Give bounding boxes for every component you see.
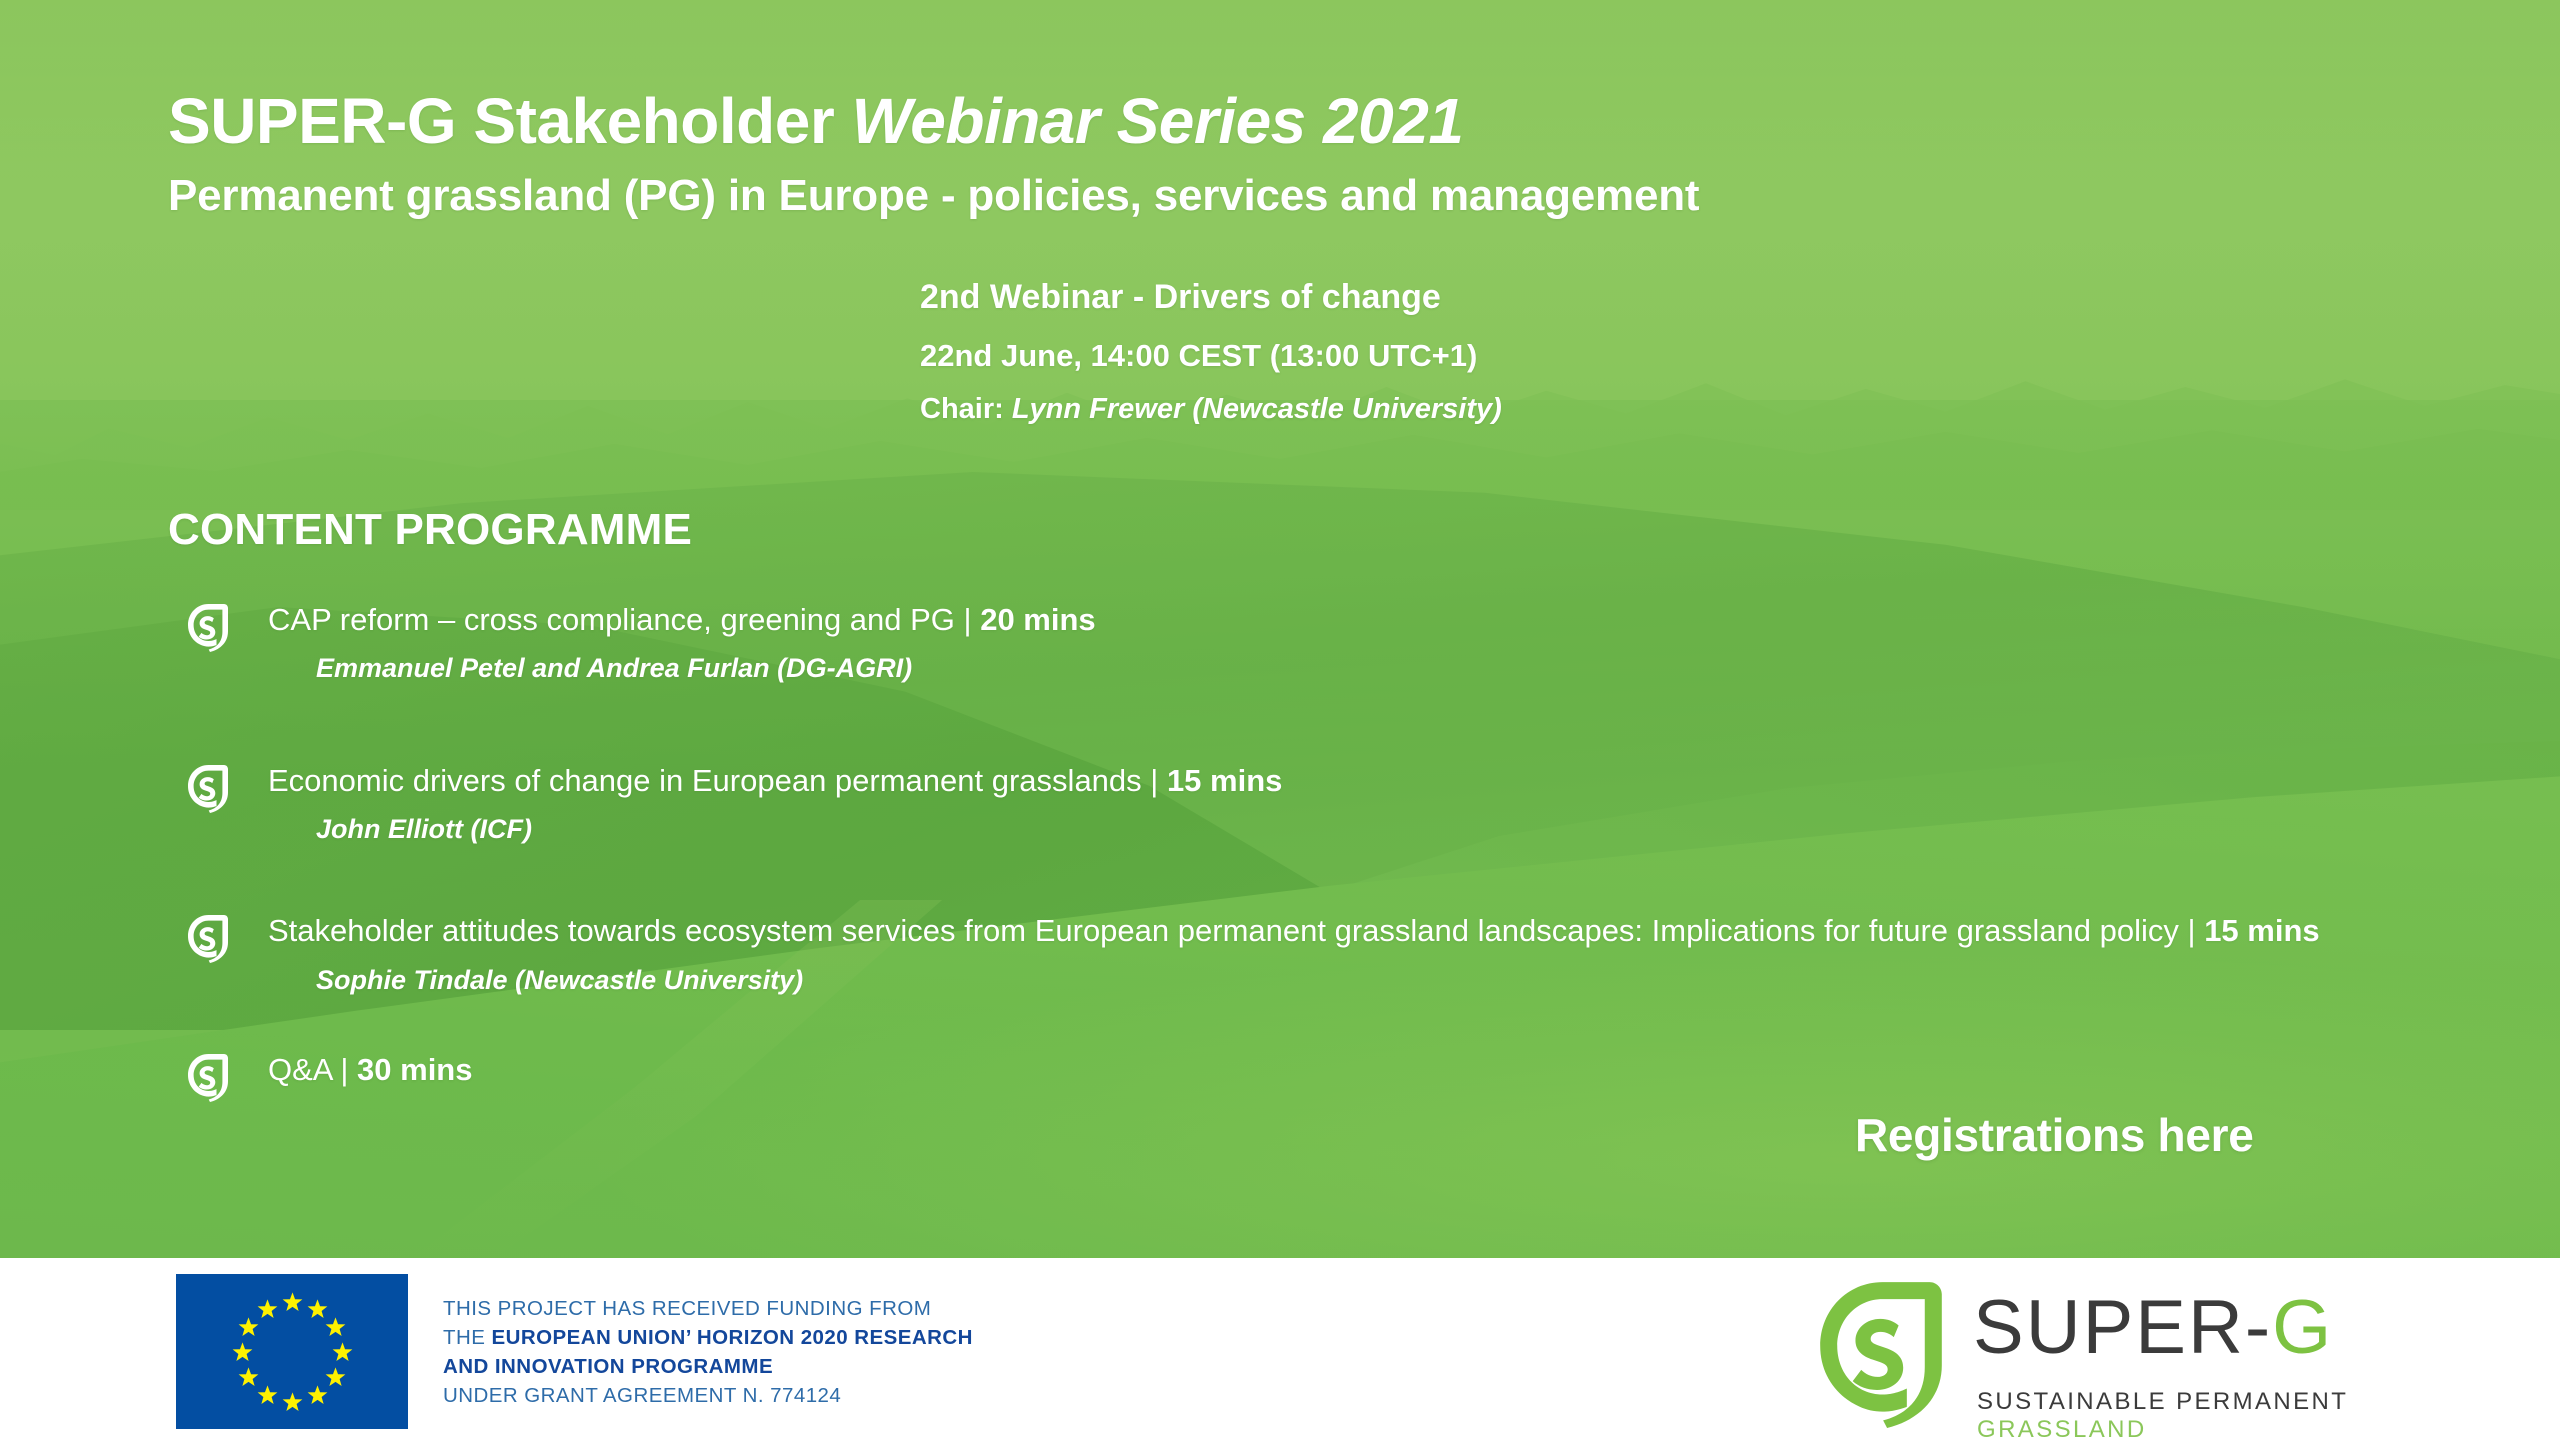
superg-tagline-dark: SUSTAINABLE PERMANENT [1977,1388,2348,1415]
footer-bar: THIS PROJECT HAS RECEIVED FUNDING FROM T… [0,1258,2560,1446]
funding-line-4: UNDER GRANT AGREEMENT N. 774124 [443,1381,973,1410]
list-item: CAP reform – cross compliance, greening … [168,600,2468,685]
session-duration: 30 mins [348,1052,472,1087]
webinar-meta-block: 2nd Webinar - Drivers of change 22nd Jun… [920,280,2320,424]
title-main-text: SUPER-G Stakeholder [168,85,852,157]
session-speaker: John Elliott (ICF) [316,813,2468,845]
session-title-text: Stakeholder attitudes towards ecosystem … [268,913,2196,948]
session-speaker: Sophie Tindale (Newcastle University) [316,964,2468,996]
eu-star-icon [282,1291,303,1312]
superg-logo-mark-icon [186,763,230,813]
session-title: Q&A | 30 mins [268,1050,2468,1090]
registrations-link[interactable]: Registrations here [1855,1108,2254,1162]
eu-star-icon [332,1341,353,1362]
session-title: CAP reform – cross compliance, greening … [268,600,2468,640]
programme-heading: CONTENT PROGRAMME [168,505,692,555]
funding-line-2-plain: THE [443,1326,492,1349]
session-title-text: CAP reform – cross compliance, greening … [268,602,972,637]
session-title: Stakeholder attitudes towards ecosystem … [268,911,2468,951]
eu-star-icon [238,1316,259,1337]
chair-label: Chair: [920,393,1012,425]
eu-star-icon [282,1391,303,1412]
funding-line-3: AND INNOVATION PROGRAMME [443,1352,973,1381]
superg-tagline: SUSTAINABLE PERMANENT GRASSLAND [1977,1388,2425,1444]
session-duration: 15 mins [1158,763,1282,798]
eu-flag-stars [176,1274,408,1429]
superg-logo-mark-icon [186,1052,230,1102]
superg-tagline-green: GRASSLAND [1977,1416,2147,1443]
webinar-name: 2nd Webinar - Drivers of change [920,280,2320,314]
eu-star-icon [307,1384,328,1405]
eu-star-icon [238,1366,259,1387]
superg-wordmark-super: SUPER- [1973,1285,2272,1370]
session-title-text: Economic drivers of change in European p… [268,763,1158,798]
webinar-chair: Chair: Lynn Frewer (Newcastle University… [920,395,2320,424]
superg-wordmark: SUPER-G [1973,1290,2333,1366]
session-speaker: Emmanuel Petel and Andrea Furlan (DG-AGR… [316,652,2468,684]
webinar-poster: SUPER-G Stakeholder Webinar Series 2021 … [0,0,2560,1446]
spacer [168,996,2468,1050]
funding-line-3-bold: AND INNOVATION PROGRAMME [443,1355,773,1378]
eu-star-icon [257,1298,278,1319]
eu-flag-icon [176,1274,408,1429]
eu-star-icon [325,1316,346,1337]
list-item: Economic drivers of change in European p… [168,761,2468,846]
page-subtitle: Permanent grassland (PG) in Europe - pol… [168,171,2408,221]
superg-logo-mark-icon [186,602,230,652]
chair-name: Lynn Frewer (Newcastle University) [1012,393,1502,425]
title-italic-text: Webinar Series 2021 [852,85,1464,157]
list-item: Stakeholder attitudes towards ecosystem … [168,911,2468,996]
spacer [168,685,2468,761]
funding-line-2-bold: EUROPEAN UNION’ HORIZON 2020 RESEARCH [492,1326,973,1349]
superg-logo-mark-icon [186,913,230,963]
session-duration: 20 mins [972,602,1096,637]
session-title-text: Q&A | [268,1052,348,1087]
funding-line-2: THE EUROPEAN UNION’ HORIZON 2020 RESEARC… [443,1323,973,1352]
funding-line-1: THIS PROJECT HAS RECEIVED FUNDING FROM [443,1294,973,1323]
spacer [168,845,2468,911]
session-duration: 15 mins [2196,913,2320,948]
superg-logo-mark-icon [1805,1276,1957,1428]
headline-block: SUPER-G Stakeholder Webinar Series 2021 … [168,88,2408,221]
eu-star-icon [325,1366,346,1387]
eu-star-icon [257,1384,278,1405]
webinar-datetime: 22nd June, 14:00 CEST (13:00 UTC+1) [920,340,2320,371]
session-title: Economic drivers of change in European p… [268,761,2468,801]
funding-statement: THIS PROJECT HAS RECEIVED FUNDING FROM T… [443,1294,973,1410]
page-title: SUPER-G Stakeholder Webinar Series 2021 [168,88,2408,155]
superg-wordmark-g: G [2272,1285,2333,1370]
list-item: Q&A | 30 mins [168,1050,2468,1090]
eu-star-icon [232,1341,253,1362]
superg-logo: SUPER-G SUSTAINABLE PERMANENT GRASSLAND [1805,1272,2425,1434]
programme-list: CAP reform – cross compliance, greening … [168,600,2468,1090]
